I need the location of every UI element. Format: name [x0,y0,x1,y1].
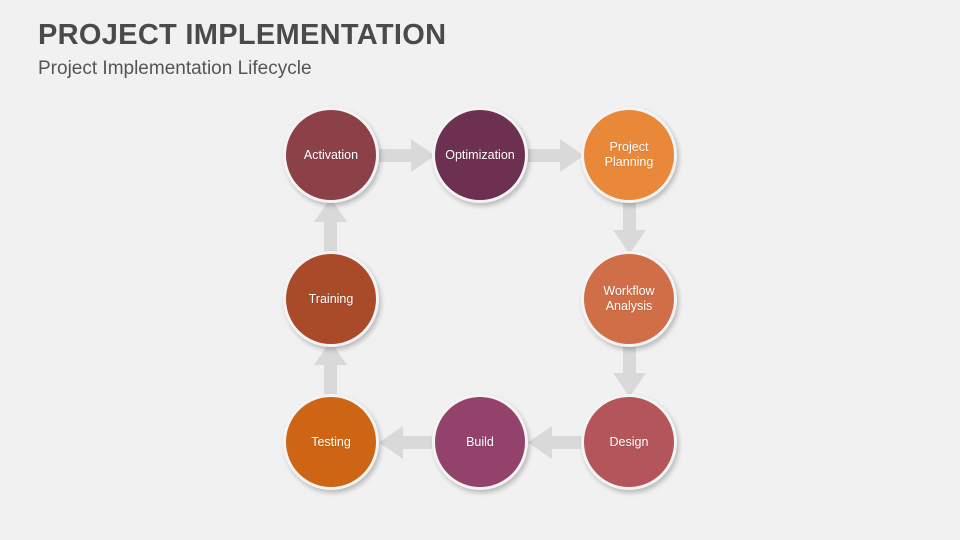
cycle-node-label: Optimization [441,148,518,163]
arrow-design-to-build [528,426,584,459]
cycle-node-label: Build [462,435,498,450]
arrow-training-to-activation [314,198,347,254]
cycle-node-testing[interactable]: Testing [283,394,379,490]
cycle-diagram: Activation Optimization Project Planning… [0,0,960,540]
cycle-node-optimization[interactable]: Optimization [432,107,528,203]
cycle-node-label: Testing [307,435,355,450]
cycle-node-label: Workflow Analysis [584,284,674,314]
cycle-node-project-planning[interactable]: Project Planning [581,107,677,203]
cycle-node-activation[interactable]: Activation [283,107,379,203]
arrow-workflow-analysis-to-design [613,341,646,397]
arrow-project-planning-to-workflow-analysis [613,198,646,254]
cycle-node-label: Activation [300,148,362,163]
arrow-build-to-testing [379,426,435,459]
cycle-node-training[interactable]: Training [283,251,379,347]
cycle-node-build[interactable]: Build [432,394,528,490]
cycle-node-design[interactable]: Design [581,394,677,490]
arrow-optimization-to-project-planning [528,139,584,172]
cycle-node-label: Project Planning [584,140,674,170]
arrow-testing-to-training [314,341,347,397]
cycle-node-label: Design [606,435,653,450]
arrow-activation-to-optimization [379,139,435,172]
slide-canvas: PROJECT IMPLEMENTATION Project Implement… [0,0,960,540]
cycle-node-label: Training [305,292,358,307]
cycle-node-workflow-analysis[interactable]: Workflow Analysis [581,251,677,347]
